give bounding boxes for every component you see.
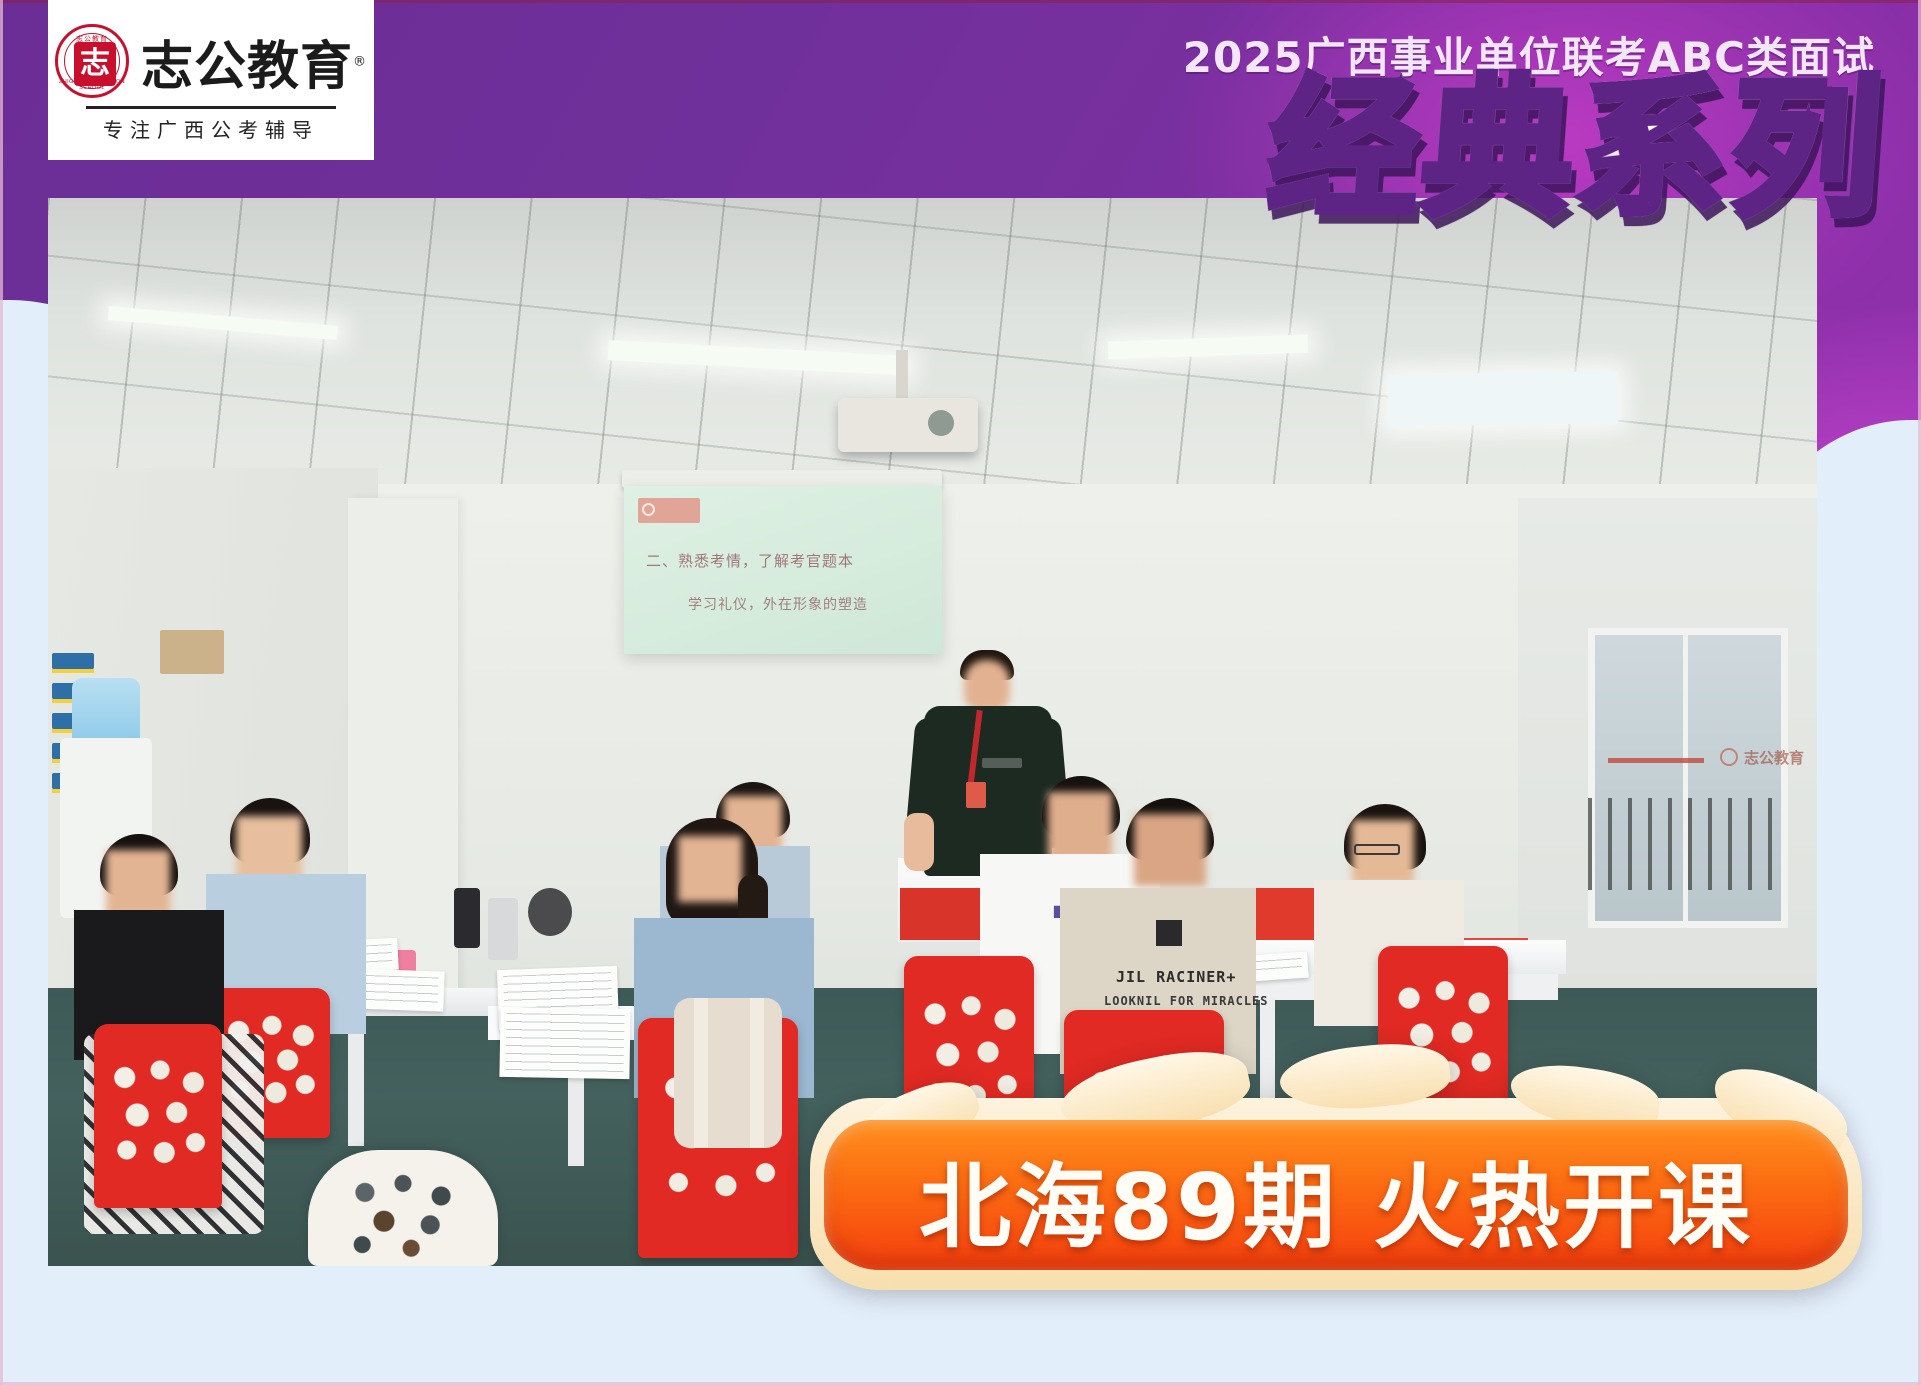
shirt-print-line-2: LOOKNIL FOR MIRACLES: [1104, 994, 1269, 1008]
paper-lines: [354, 975, 439, 1006]
wall-board: [160, 630, 224, 674]
backpack: [674, 998, 782, 1148]
projected-slide: 二、熟悉考情，了解考官题本 学习礼仪，外在形象的塑造: [624, 486, 942, 654]
desk-fan: [528, 888, 572, 936]
brand-seal-icon: 志公教育 志 ZHIGONG EDUCATION SCHOOL: [55, 24, 129, 98]
brand-divider: [86, 106, 336, 109]
travel-mug: [488, 898, 518, 960]
wall-brand-logo: 志公教育: [1720, 746, 1812, 772]
brand-name-text: 志公教育: [141, 37, 353, 97]
student-head: [1048, 792, 1112, 860]
instructor-shirt-logo: [982, 758, 1022, 768]
thermos-bottle: [454, 888, 480, 948]
projector-mount: [896, 350, 908, 402]
promo-banner[interactable]: 北海89期 火热开课: [810, 1098, 1862, 1290]
chair-white: [308, 1150, 498, 1266]
header-headline: 经典系列: [1263, 72, 1890, 230]
shirt-print-square: [1156, 920, 1182, 946]
banner-body: 北海89期 火热开课: [824, 1120, 1848, 1270]
chair-red: [94, 1024, 222, 1208]
photo-ceiling: [48, 198, 1817, 498]
poster-canvas: 志公教育 志 ZHIGONG EDUCATION SCHOOL 志公教育® 专注…: [0, 0, 1921, 1385]
instructor-body: [924, 706, 1052, 876]
instructor-hand: [904, 813, 934, 871]
slide-brand-badge: [638, 498, 700, 523]
wall-logo-seal-icon: [1720, 748, 1738, 766]
wall-logo-text: 志公教育: [1744, 747, 1804, 768]
brand-logo-card: 志公教育 志 ZHIGONG EDUCATION SCHOOL 志公教育® 专注…: [48, 0, 374, 160]
student-head: [106, 850, 170, 916]
student-head: [678, 836, 742, 902]
brand-logo-row: 志公教育 志 ZHIGONG EDUCATION SCHOOL 志公教育®: [55, 24, 367, 99]
slide-line-2: 学习礼仪，外在形象的塑造: [688, 594, 868, 614]
shelf-item: [52, 653, 94, 673]
student-head: [1134, 814, 1206, 886]
instructor-badge: [966, 782, 986, 808]
brand-name: 志公教育®: [141, 24, 367, 99]
ceiling-grid: [48, 198, 1817, 498]
brand-seal-bottom-text: ZHIGONG EDUCATION SCHOOL: [58, 79, 126, 91]
shirt-print-line-1: JIL RACINER+: [1116, 968, 1236, 986]
ceiling-projector: [838, 398, 978, 452]
brand-tagline: 专注广西公考辅导: [103, 114, 319, 143]
paper-sheet: [499, 1007, 630, 1079]
banner-label: 北海89期 火热开课: [919, 1133, 1753, 1266]
backpack-strap: [750, 998, 764, 1148]
table-leg: [348, 1016, 364, 1146]
slide-line-1: 二、熟悉考情，了解考官题本: [646, 550, 854, 571]
wall-accent-line: [1608, 758, 1704, 763]
poster-edge-left: [0, 0, 3, 1385]
ceiling-light: [1388, 371, 1619, 427]
projector-lens: [928, 410, 954, 436]
instructor-head: [964, 660, 1010, 712]
paper-lines: [506, 1013, 625, 1073]
photo-railing: [1588, 798, 1788, 890]
backpack-strap: [694, 998, 708, 1148]
registered-mark: ®: [353, 54, 367, 69]
student-glasses: [1354, 844, 1400, 855]
